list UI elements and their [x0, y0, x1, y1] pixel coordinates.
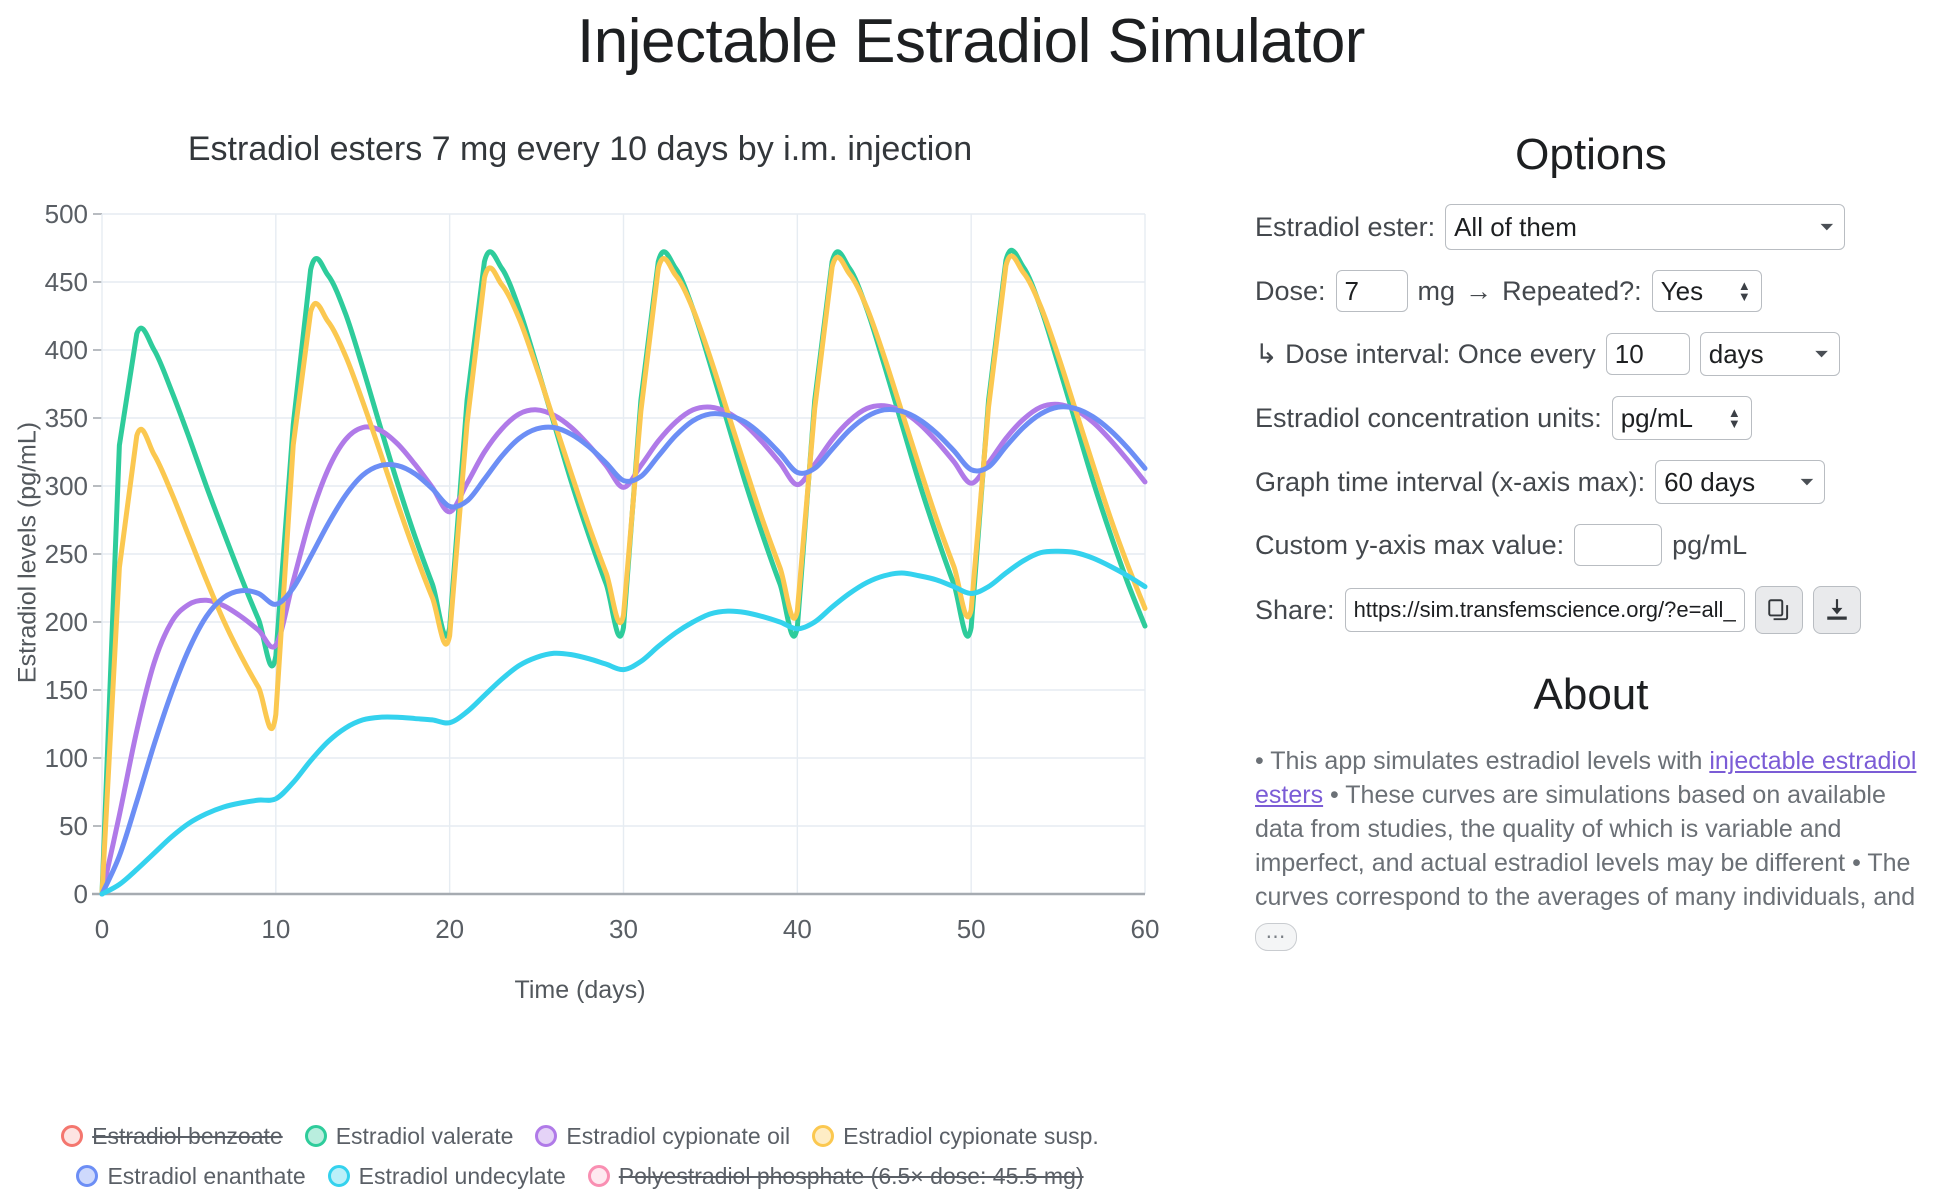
- repeated-select-wrap: Yes ▲▼: [1652, 270, 1762, 312]
- svg-text:0: 0: [95, 914, 109, 944]
- chart-panel: Estradiol esters 7 mg every 10 days by i…: [0, 128, 1180, 1078]
- legend-label: Polyestradiol phosphate (6.5× dose: 45.5…: [619, 1163, 1084, 1190]
- plot-area: Estradiol levels (pg/mL) 050100150200250…: [0, 186, 1160, 946]
- svg-text:400: 400: [45, 335, 88, 365]
- legend-item[interactable]: Estradiol undecylate: [328, 1163, 566, 1190]
- svg-text:20: 20: [435, 914, 464, 944]
- repeated-select[interactable]: Yes: [1652, 270, 1762, 312]
- ester-select-wrap: All of them ⏷: [1445, 204, 1845, 250]
- legend-label: Estradiol enanthate: [107, 1163, 305, 1190]
- legend-item[interactable]: Estradiol cypionate oil: [535, 1123, 790, 1150]
- option-row-ester: Estradiol ester: All of them ⏷: [1255, 204, 1927, 250]
- legend-row: Estradiol enanthateEstradiol undecylateP…: [0, 1156, 1160, 1196]
- svg-text:0: 0: [74, 879, 88, 909]
- svg-text:150: 150: [45, 675, 88, 705]
- download-icon: [1824, 597, 1850, 623]
- chart-legend: Estradiol benzoateEstradiol valerateEstr…: [0, 1116, 1160, 1196]
- legend-item[interactable]: Estradiol enanthate: [76, 1163, 305, 1190]
- arrow-glyph: →: [1465, 271, 1492, 311]
- graph-time-interval-select[interactable]: 60 days: [1655, 460, 1825, 504]
- share-label: Share:: [1255, 590, 1335, 630]
- option-row-share: Share:: [1255, 586, 1927, 634]
- legend-label: Estradiol benzoate: [92, 1123, 283, 1150]
- legend-color-icon: [328, 1165, 350, 1187]
- copy-button[interactable]: [1755, 586, 1803, 634]
- ester-label: Estradiol ester:: [1255, 207, 1435, 247]
- graph-time-interval-label: Graph time interval (x-axis max):: [1255, 462, 1645, 502]
- page-root: Injectable Estradiol Simulator Estradiol…: [0, 0, 1942, 1085]
- svg-text:250: 250: [45, 539, 88, 569]
- interval-unit-select-wrap: days ⏷: [1700, 332, 1840, 376]
- about-heading: About: [1255, 668, 1927, 722]
- repeated-label: Repeated?:: [1502, 271, 1642, 311]
- dose-input[interactable]: [1336, 270, 1408, 312]
- x-axis-label: Time (days): [0, 976, 1160, 1005]
- share-url-input[interactable]: [1345, 588, 1745, 632]
- legend-color-icon: [588, 1165, 610, 1187]
- svg-text:450: 450: [45, 267, 88, 297]
- legend-label: Estradiol cypionate oil: [566, 1123, 790, 1150]
- concentration-units-label: Estradiol concentration units:: [1255, 398, 1602, 438]
- svg-text:10: 10: [261, 914, 290, 944]
- download-button[interactable]: [1813, 586, 1861, 634]
- legend-label: Estradiol undecylate: [359, 1163, 566, 1190]
- legend-item[interactable]: Estradiol valerate: [305, 1123, 514, 1150]
- legend-item[interactable]: Estradiol cypionate susp.: [812, 1123, 1099, 1150]
- svg-text:300: 300: [45, 471, 88, 501]
- page-title: Injectable Estradiol Simulator: [0, 6, 1942, 78]
- svg-text:350: 350: [45, 403, 88, 433]
- show-more-button[interactable]: ⋯: [1255, 923, 1297, 951]
- svg-text:40: 40: [783, 914, 812, 944]
- legend-label: Estradiol valerate: [336, 1123, 514, 1150]
- ymax-unit-label: pg/mL: [1672, 525, 1747, 565]
- about-text: • This app simulates estradiol levels wi…: [1255, 744, 1927, 951]
- custom-ymax-label: Custom y-axis max value:: [1255, 525, 1564, 565]
- option-row-units: Estradiol concentration units: pg/mL ▲▼: [1255, 396, 1927, 440]
- dose-label: Dose:: [1255, 271, 1326, 311]
- time-select-wrap: 60 days ⏷: [1655, 460, 1825, 504]
- units-select-wrap: pg/mL ▲▼: [1612, 396, 1752, 440]
- copy-icon: [1766, 597, 1792, 623]
- legend-color-icon: [812, 1125, 834, 1147]
- legend-row: Estradiol benzoateEstradiol valerateEstr…: [0, 1116, 1160, 1156]
- dose-interval-label: ↳ Dose interval: Once every: [1255, 334, 1596, 374]
- svg-text:200: 200: [45, 607, 88, 637]
- estradiol-ester-select[interactable]: All of them: [1445, 204, 1845, 250]
- svg-text:500: 500: [45, 199, 88, 229]
- svg-text:50: 50: [59, 811, 88, 841]
- option-row-time: Graph time interval (x-axis max): 60 day…: [1255, 460, 1927, 504]
- custom-ymax-input[interactable]: [1574, 524, 1662, 566]
- svg-text:50: 50: [957, 914, 986, 944]
- estradiol-line-chart[interactable]: 0501001502002503003504004505000102030405…: [0, 186, 1160, 946]
- legend-color-icon: [61, 1125, 83, 1147]
- interval-unit-select[interactable]: days: [1700, 332, 1840, 376]
- legend-item[interactable]: Estradiol benzoate: [61, 1123, 283, 1150]
- option-row-dose: Dose: mg → Repeated?: Yes ▲▼: [1255, 270, 1927, 312]
- svg-text:100: 100: [45, 743, 88, 773]
- about-text-part-1: • This app simulates estradiol levels wi…: [1255, 747, 1709, 775]
- option-row-ymax: Custom y-axis max value: pg/mL: [1255, 524, 1927, 566]
- svg-text:30: 30: [609, 914, 638, 944]
- concentration-units-select[interactable]: pg/mL: [1612, 396, 1752, 440]
- dose-interval-input[interactable]: [1606, 333, 1690, 375]
- svg-text:60: 60: [1131, 914, 1160, 944]
- dose-unit-label: mg: [1418, 271, 1456, 311]
- options-panel: Options Estradiol ester: All of them ⏷ D…: [1255, 128, 1927, 951]
- about-text-part-2: • These curves are simulations based on …: [1255, 781, 1915, 911]
- legend-item[interactable]: Polyestradiol phosphate (6.5× dose: 45.5…: [588, 1163, 1084, 1190]
- legend-color-icon: [535, 1125, 557, 1147]
- chart-title: Estradiol esters 7 mg every 10 days by i…: [0, 128, 1160, 170]
- legend-color-icon: [76, 1165, 98, 1187]
- legend-color-icon: [305, 1125, 327, 1147]
- option-row-interval: ↳ Dose interval: Once every days ⏷: [1255, 332, 1927, 376]
- options-heading: Options: [1255, 128, 1927, 182]
- legend-label: Estradiol cypionate susp.: [843, 1123, 1099, 1150]
